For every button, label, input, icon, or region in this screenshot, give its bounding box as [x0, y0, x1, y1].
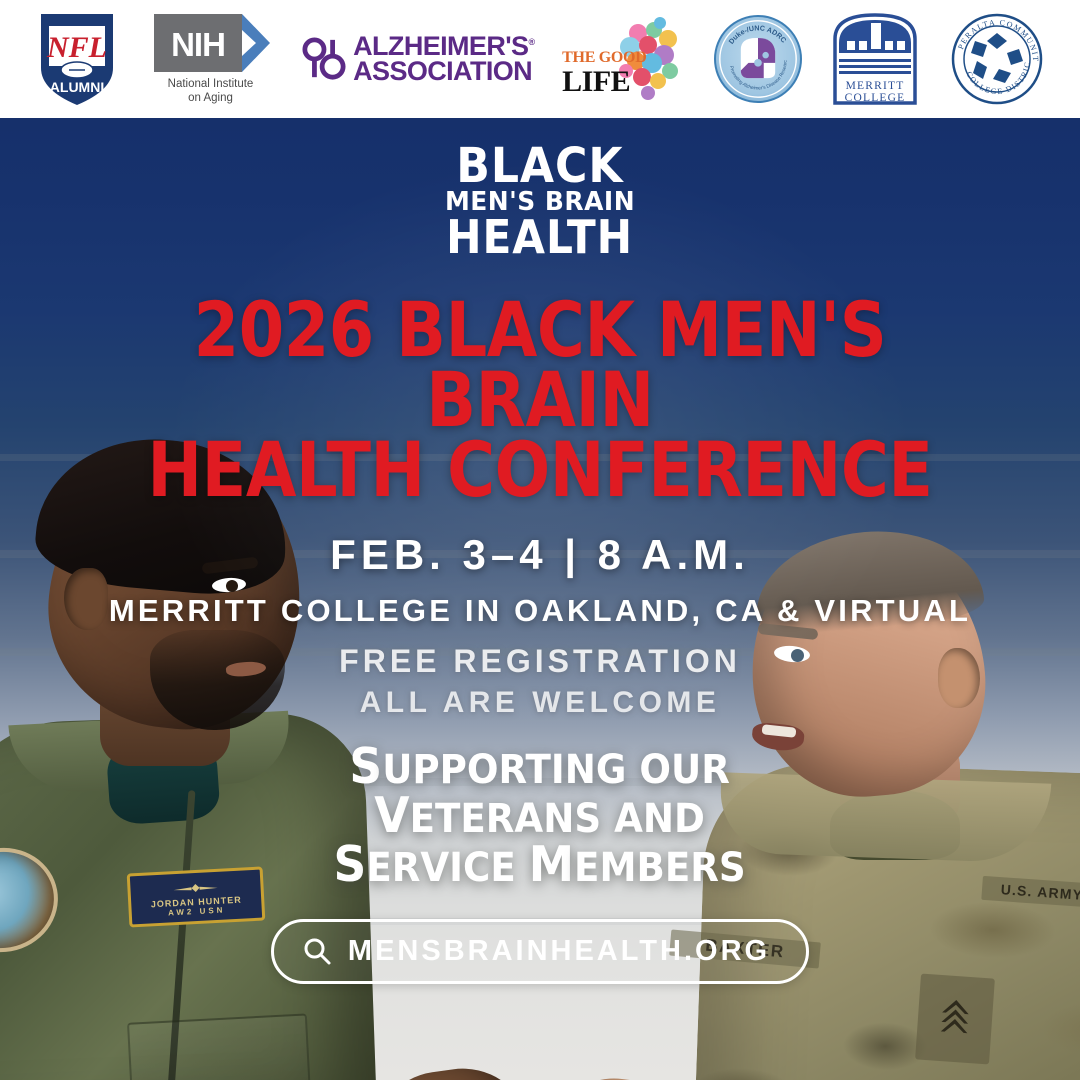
registered-mark: ® — [528, 37, 534, 47]
welcome-note: ALL ARE WELCOME — [360, 686, 721, 720]
alzheimers-line2: ASSOCIATION — [353, 59, 534, 84]
svg-text:NFL: NFL — [46, 31, 107, 64]
registration-note: FREE REGISTRATION — [339, 643, 741, 680]
bmbh-logo-line3: HEALTH — [447, 218, 634, 258]
support-line3-rest: ERVICE — [367, 845, 529, 891]
black-mens-brain-health-logo: BLACK MEN'S BRAIN HEALTH — [438, 146, 641, 257]
right-rank-insignia — [915, 974, 995, 1065]
nih-mark-icon: NIH — [146, 14, 274, 72]
merritt-shield-icon: MERRITT COLLEGE — [827, 9, 923, 109]
nih-caption-line2: on Aging — [144, 91, 276, 105]
nih-national-institute-on-aging-logo: NIH National Institute on Aging — [144, 14, 276, 105]
event-date-time: FEB. 3–4 | 8 A.M. — [330, 531, 750, 579]
event-headline: 2026 BLACK MEN'S BRAIN HEALTH CONFERENCE — [76, 295, 1005, 505]
search-icon — [302, 936, 332, 966]
merritt-college-logo: MERRITT COLLEGE — [827, 9, 923, 109]
event-venue: MERRITT COLLEGE IN OAKLAND, CA & VIRTUAL — [109, 593, 971, 629]
sponsor-logo-bar: NFL ALUMNI NIH National Institut — [0, 0, 1080, 118]
duke-unc-adrc-logo: Duke-/UNC ADRC Promoting Alzheimer's Dis… — [714, 15, 802, 103]
puzzle-head-icon: Duke-/UNC ADRC Promoting Alzheimer's Dis… — [716, 17, 800, 101]
support-line2-cap: V — [375, 787, 410, 844]
support-line-2: VETERANS AND — [334, 791, 746, 840]
conference-flyer: NFL ALUMNI NIH National Institut — [0, 0, 1080, 1080]
alzheimers-mark-icon — [302, 35, 346, 83]
svg-text:ALUMNI: ALUMNI — [50, 79, 104, 95]
website-url-button[interactable]: MENSBRAINHEALTH.ORG — [271, 919, 809, 984]
support-line1-rest: UPPORTING OUR — [383, 747, 731, 793]
nih-caption-line1: National Institute — [144, 77, 276, 91]
support-line3-cap: S — [334, 836, 367, 893]
flyer-canvas: JORDAN HUNTER AW2 USN U.S. ARMY BAXTER — [0, 118, 1080, 1080]
nfl-alumni-logo: NFL ALUMNI — [35, 10, 119, 108]
peralta-seal-icon: PERALTA COMMUNITY COLLEGE DISTRICT — [949, 11, 1045, 107]
support-line-1: SUPPORTING OUR — [334, 742, 746, 791]
peralta-community-college-district-logo: PERALTA COMMUNITY COLLEGE DISTRICT — [949, 11, 1045, 107]
nfl-shield-icon: NFL ALUMNI — [35, 10, 119, 108]
the-good-life-logo: THE GOOD LIFE — [560, 13, 688, 105]
svg-text:NIH: NIH — [172, 26, 226, 63]
left-chest-pocket — [127, 1013, 313, 1080]
support-line3-cap2: M — [529, 836, 574, 893]
good-life-line2: LIFE — [562, 65, 630, 99]
bmbh-logo-line1: BLACK — [456, 146, 623, 187]
support-line-3: SERVICE MEMBERS — [334, 840, 746, 889]
svg-text:MERRITT: MERRITT — [846, 80, 905, 92]
alzheimers-association-logo: ALZHEIMER'S® ASSOCIATION — [302, 34, 534, 84]
svg-text:COLLEGE: COLLEGE — [845, 92, 906, 104]
supporting-veterans-block: SUPPORTING OUR VETERANS AND SERVICE MEMB… — [334, 742, 746, 889]
website-url-text: MENSBRAINHEALTH.ORG — [348, 935, 770, 968]
chevron-rank-icon — [934, 993, 975, 1046]
flyer-text-block: BLACK MEN'S BRAIN HEALTH 2026 BLACK MEN'… — [0, 118, 1080, 984]
support-line3-rest2: EMBERS — [574, 845, 746, 891]
